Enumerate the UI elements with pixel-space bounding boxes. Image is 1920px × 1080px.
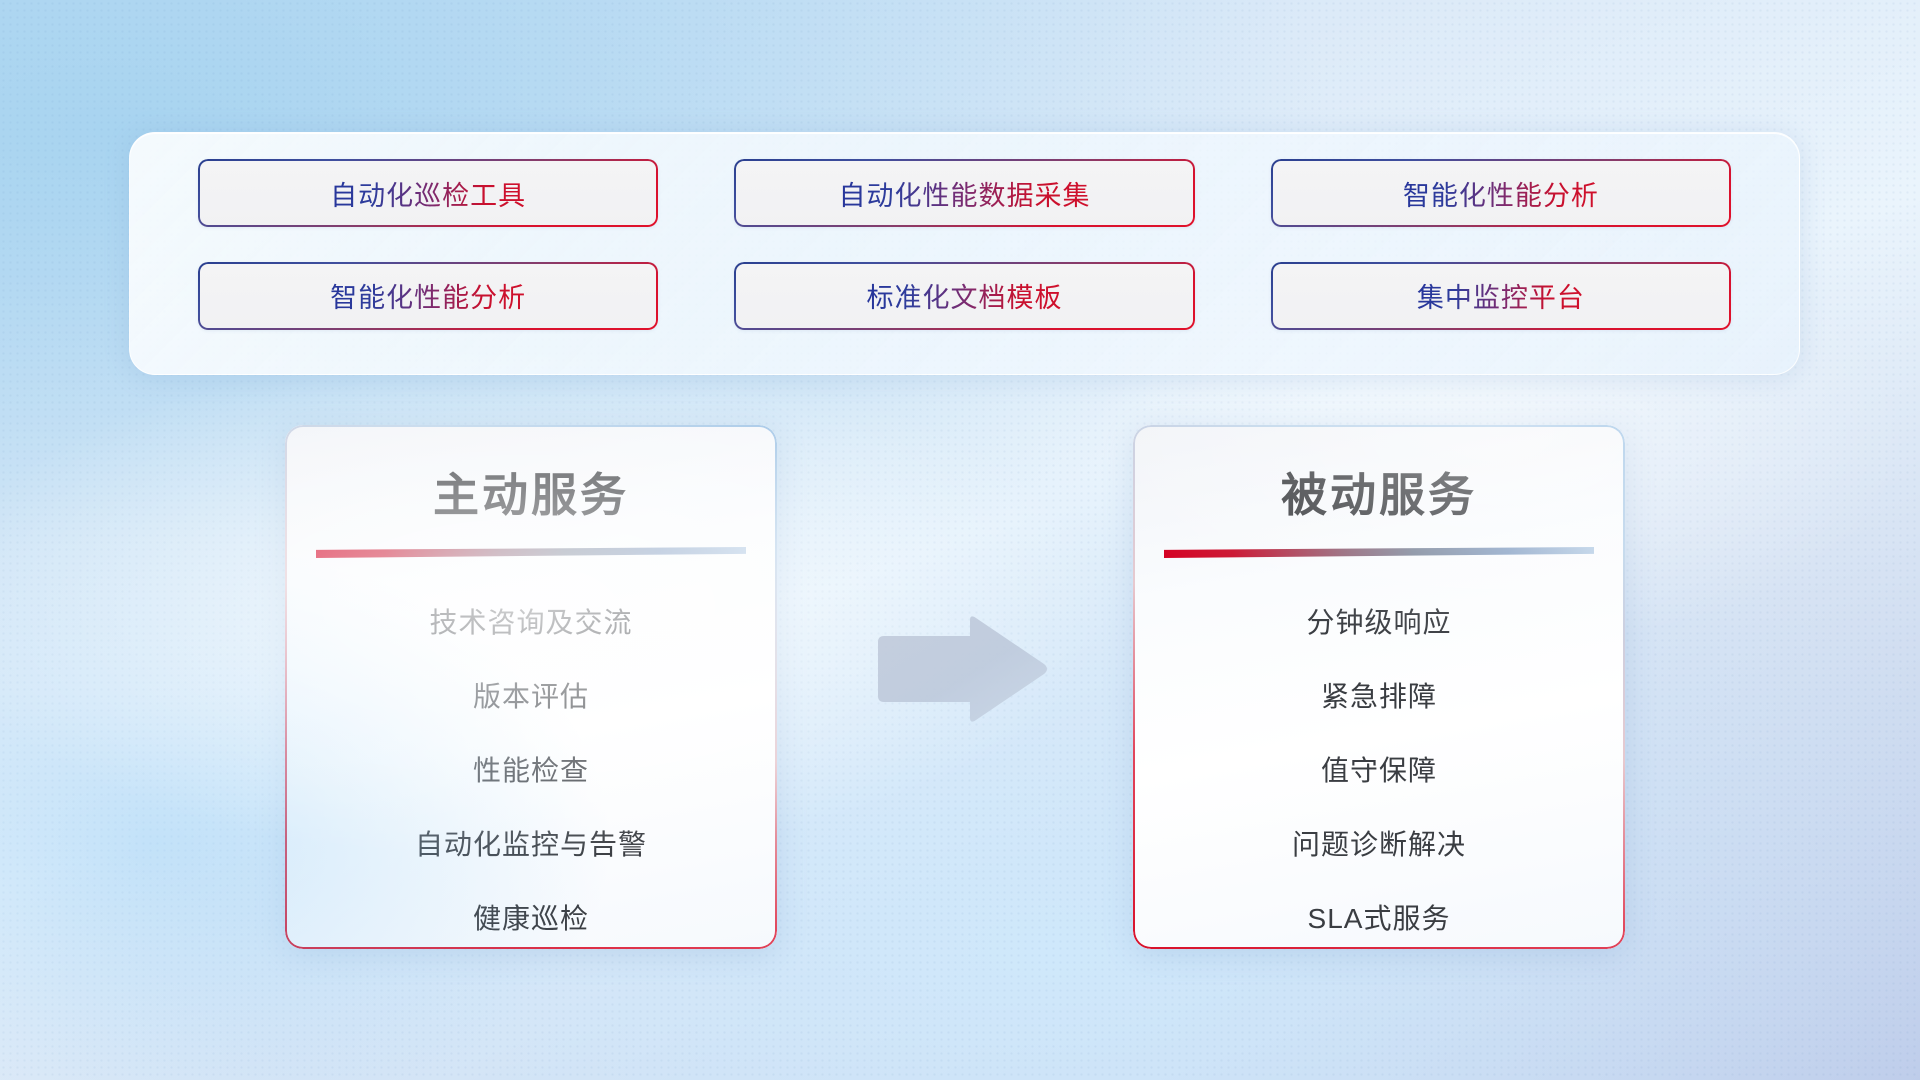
- arrow-right-icon: [872, 614, 1052, 724]
- list-item[interactable]: 性能检查: [285, 744, 777, 798]
- service-card-passive[interactable]: 被动服务 分钟级响应 紧急排障 值守保障 问题诊断解决 SLA式服务: [1133, 425, 1625, 949]
- capability-chip-label: 自动化巡检工具: [330, 174, 526, 213]
- capability-chip-label: 智能化性能分析: [1403, 174, 1599, 213]
- card-title-divider: [316, 547, 746, 558]
- list-item[interactable]: 分钟级响应: [1133, 596, 1625, 650]
- service-item-list: 分钟级响应 紧急排障 值守保障 问题诊断解决 SLA式服务: [1133, 596, 1625, 946]
- card-title: 被动服务: [1133, 459, 1625, 525]
- list-item[interactable]: 健康巡检: [285, 892, 777, 946]
- capability-chip-label: 自动化性能数据采集: [838, 174, 1090, 213]
- list-item[interactable]: 自动化监控与告警: [285, 818, 777, 872]
- flow-arrow: [872, 614, 1052, 724]
- capabilities-panel: 自动化巡检工具 自动化性能数据采集 智能化性能分析 智能化性能分析 标准化文档模…: [129, 132, 1800, 375]
- capability-chip-standardized-document-template[interactable]: 标准化文档模板: [734, 262, 1194, 330]
- capability-chip-centralized-monitoring-platform[interactable]: 集中监控平台: [1271, 262, 1731, 330]
- capability-chip-intelligent-performance-analysis-1[interactable]: 智能化性能分析: [1271, 159, 1731, 227]
- list-item[interactable]: SLA式服务: [1133, 892, 1625, 946]
- card-title: 主动服务: [285, 459, 777, 525]
- capability-chip-intelligent-performance-analysis-2[interactable]: 智能化性能分析: [198, 262, 658, 330]
- capability-chip-label: 集中监控平台: [1417, 276, 1585, 315]
- capability-chip-automated-inspection-tool[interactable]: 自动化巡检工具: [198, 159, 658, 227]
- capability-chip-label: 智能化性能分析: [330, 276, 526, 315]
- list-item[interactable]: 值守保障: [1133, 744, 1625, 798]
- capability-chip-automated-performance-data-collection[interactable]: 自动化性能数据采集: [734, 159, 1194, 227]
- capability-chip-label: 标准化文档模板: [866, 276, 1062, 315]
- list-item[interactable]: 紧急排障: [1133, 670, 1625, 724]
- card-title-divider: [1164, 547, 1594, 558]
- list-item[interactable]: 版本评估: [285, 670, 777, 724]
- service-item-list: 技术咨询及交流 版本评估 性能检查 自动化监控与告警 健康巡检: [285, 596, 777, 946]
- list-item[interactable]: 技术咨询及交流: [285, 596, 777, 650]
- slide-canvas: 自动化巡检工具 自动化性能数据采集 智能化性能分析 智能化性能分析 标准化文档模…: [0, 0, 1920, 1080]
- service-card-active[interactable]: 主动服务 技术咨询及交流 版本评估 性能检查 自动化监控与告警 健康巡检: [285, 425, 777, 949]
- list-item[interactable]: 问题诊断解决: [1133, 818, 1625, 872]
